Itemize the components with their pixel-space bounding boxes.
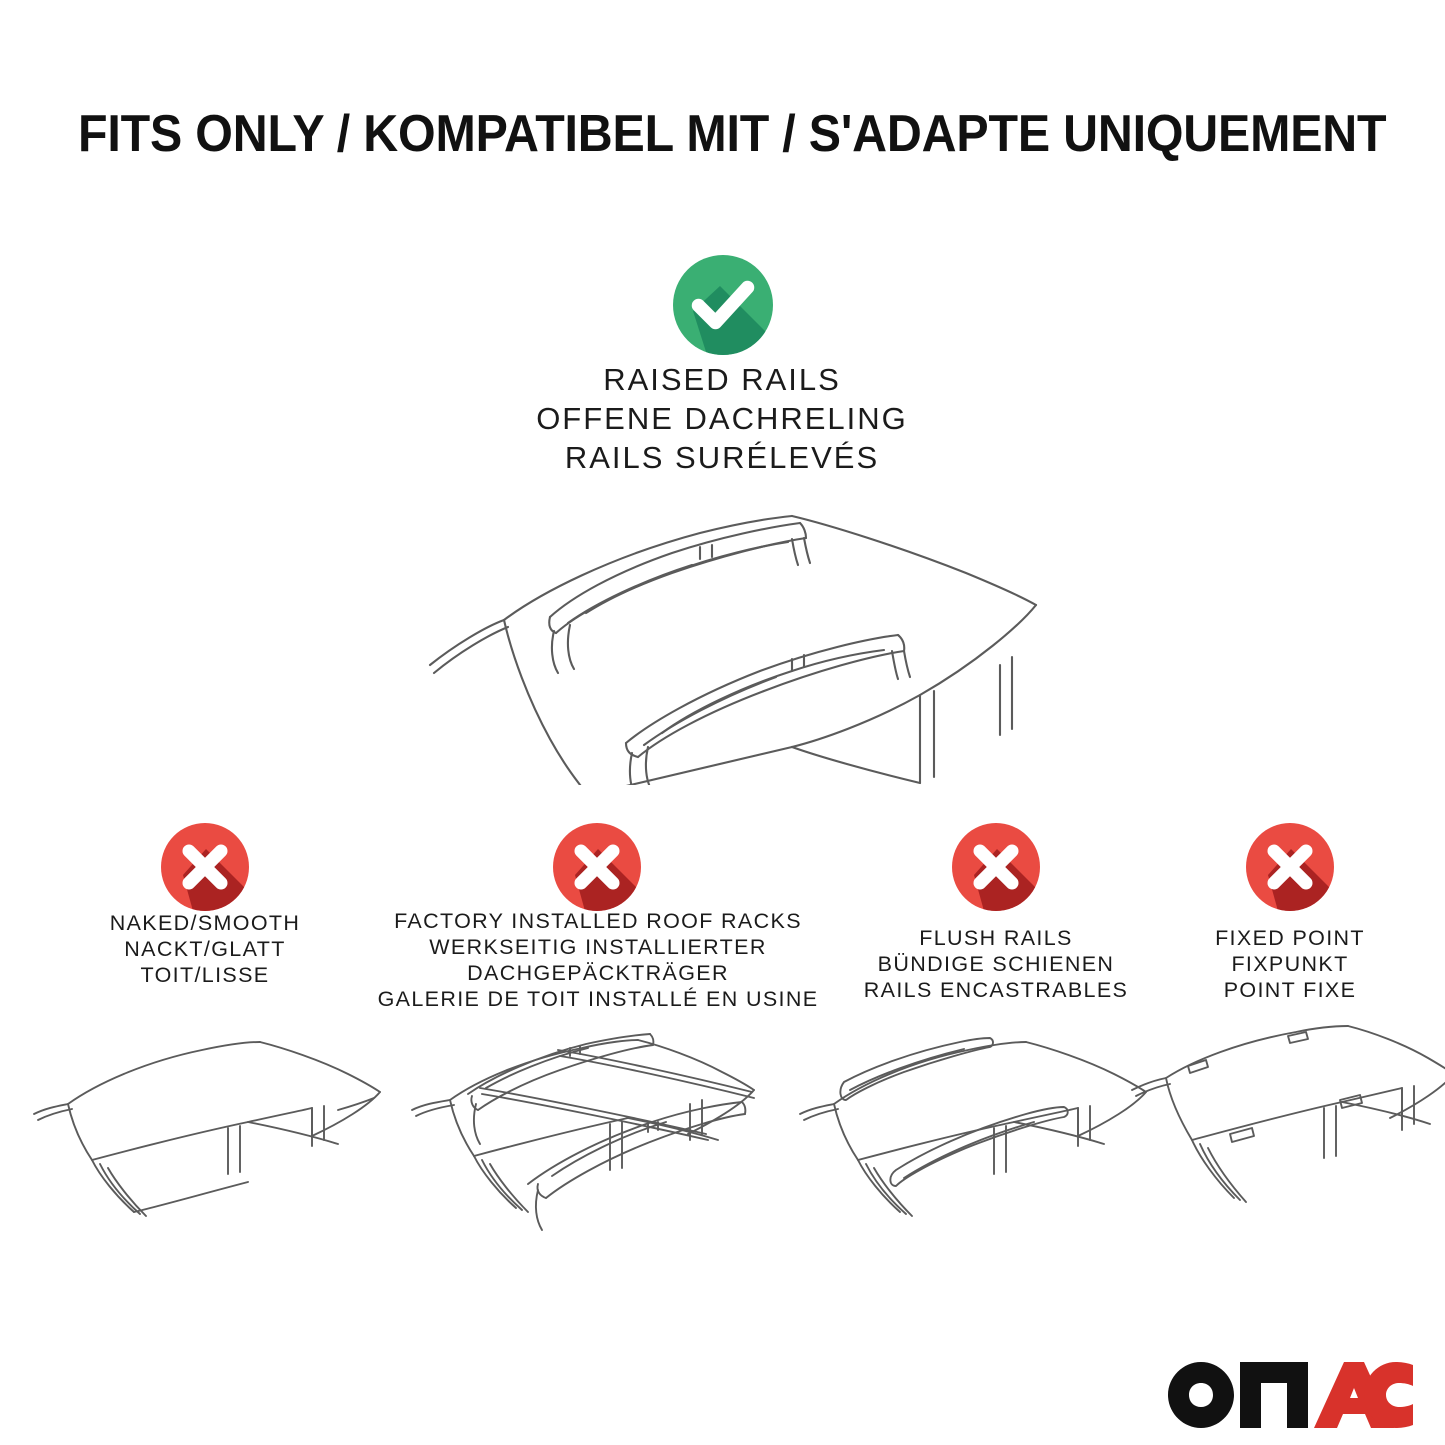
incompatible-label-fixed-point: FIXED POINT FIXPUNKT POINT FIXE <box>1140 925 1440 1003</box>
label-line: FIXPUNKT <box>1140 951 1440 977</box>
cross-mark-glyph <box>952 823 1040 911</box>
compatible-label-line: RAISED RAILS <box>422 360 1022 399</box>
car-roof-flush-rails-illustration <box>778 1018 1158 1253</box>
label-line: FACTORY INSTALLED ROOF RACKS <box>368 908 828 934</box>
omac-logo-mark <box>1168 1362 1413 1428</box>
check-mark-glyph <box>673 255 773 355</box>
cross-circle-icon <box>553 823 641 911</box>
car-roof-factory-roof-racks-illustration <box>388 1008 778 1248</box>
check-circle-icon <box>673 255 773 355</box>
incompatible-label-factory-racks: FACTORY INSTALLED ROOF RACKS WERKSEITIG … <box>368 908 828 1012</box>
cross-circle-icon <box>161 823 249 911</box>
label-line: TOIT/LISSE <box>35 962 375 988</box>
label-line: NACKT/GLATT <box>35 936 375 962</box>
fitment-chart-page: FITS ONLY / KOMPATIBEL MIT / S'ADAPTE UN… <box>0 0 1445 1445</box>
label-line: POINT FIXE <box>1140 977 1440 1003</box>
page-title: FITS ONLY / KOMPATIBEL MIT / S'ADAPTE UN… <box>78 104 1287 164</box>
omac-letter-o <box>1168 1362 1234 1428</box>
cross-mark-glyph <box>161 823 249 911</box>
compatible-label-line: OFFENE DACHRELING <box>422 399 1022 438</box>
incompatible-label-naked-smooth: NAKED/SMOOTH NACKT/GLATT TOIT/LISSE <box>35 910 375 988</box>
cross-mark-glyph <box>553 823 641 911</box>
omac-letter-m <box>1240 1362 1308 1428</box>
label-line: RAILS ENCASTRABLES <box>826 977 1166 1003</box>
car-roof-fixed-point-illustration <box>1128 1018 1445 1253</box>
compatible-label-line: RAILS SURÉLEVÉS <box>422 438 1022 477</box>
car-roof-raised-rails-illustration <box>400 485 1060 785</box>
cross-mark-glyph <box>1246 823 1334 911</box>
car-roof-naked-smooth-illustration <box>12 1018 392 1253</box>
label-line: DACHGEPÄCKTRÄGER <box>368 960 828 986</box>
compatible-label: RAISED RAILS OFFENE DACHRELING RAILS SUR… <box>422 360 1022 477</box>
label-line: FIXED POINT <box>1140 925 1440 951</box>
cross-circle-icon <box>1246 823 1334 911</box>
cross-circle-icon <box>952 823 1040 911</box>
label-line: FLUSH RAILS <box>826 925 1166 951</box>
label-line: BÜNDIGE SCHIENEN <box>826 951 1166 977</box>
omac-logo <box>1168 1362 1413 1428</box>
label-line: NAKED/SMOOTH <box>35 910 375 936</box>
label-line: WERKSEITIG INSTALLIERTER <box>368 934 828 960</box>
incompatible-label-flush-rails: FLUSH RAILS BÜNDIGE SCHIENEN RAILS ENCAS… <box>826 925 1166 1003</box>
